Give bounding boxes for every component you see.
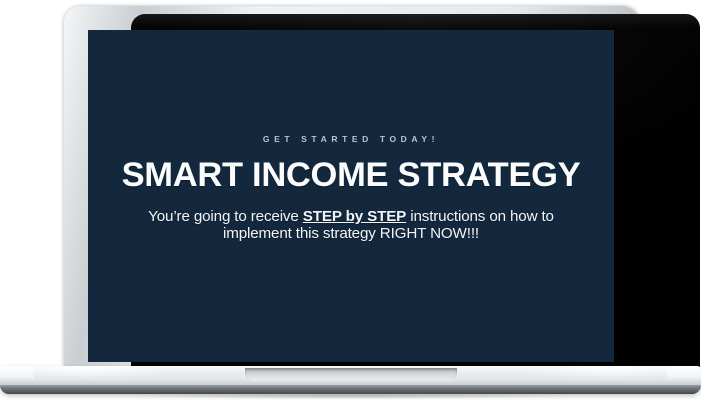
laptop-screen: GET STARTED TODAY! SMART INCOME STRATEGY… (88, 30, 614, 362)
laptop-mockup: GET STARTED TODAY! SMART INCOME STRATEGY… (0, 0, 701, 405)
base-lid-notch (245, 368, 457, 381)
slide-subheadline: You’re going to receive STEP by STEP ins… (116, 208, 586, 242)
laptop-base (0, 366, 701, 394)
presentation-slide: GET STARTED TODAY! SMART INCOME STRATEGY… (88, 30, 614, 362)
slide-headline: SMART INCOME STRATEGY (122, 157, 581, 193)
base-front-lip (0, 385, 701, 394)
subhead-text-before: You’re going to receive (148, 208, 303, 225)
subhead-emphasis: STEP by STEP (303, 208, 406, 225)
slide-eyebrow-text: GET STARTED TODAY! (263, 134, 439, 144)
bezel-glare (131, 14, 700, 28)
